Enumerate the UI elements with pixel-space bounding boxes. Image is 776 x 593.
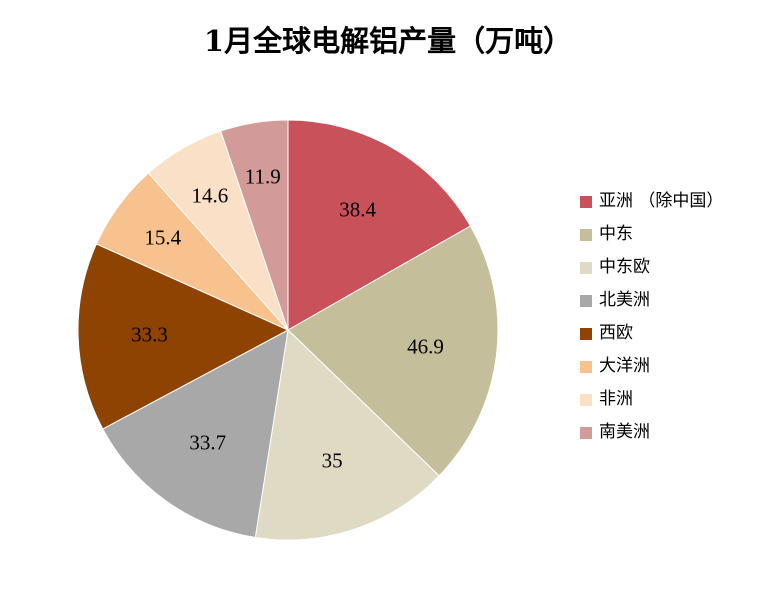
legend-item-label: 非洲 bbox=[599, 391, 633, 408]
chart-title: 1月全球电解铝产量（万吨） bbox=[0, 18, 776, 60]
legend-color-swatch bbox=[580, 295, 592, 307]
pie-chart-figure: 1月全球电解铝产量（万吨） 38.446.93533.733.315.414.6… bbox=[0, 0, 776, 593]
legend-item[interactable]: 亚洲 （除中国） bbox=[580, 185, 770, 218]
legend-item[interactable]: 中东 bbox=[580, 218, 770, 251]
legend-item[interactable]: 中东欧 bbox=[580, 251, 770, 284]
legend-color-swatch bbox=[580, 394, 592, 406]
legend-item-label: 中东欧 bbox=[599, 259, 650, 276]
legend-item-label: 中东 bbox=[599, 226, 633, 243]
legend-item[interactable]: 大洋洲 bbox=[580, 350, 770, 383]
legend-item-label: 亚洲 （除中国） bbox=[599, 193, 723, 210]
legend-color-swatch bbox=[580, 229, 592, 241]
legend-color-swatch bbox=[580, 328, 592, 340]
legend-item-label: 大洋洲 bbox=[599, 358, 650, 375]
legend-item[interactable]: 北美洲 bbox=[580, 284, 770, 317]
pie-svg bbox=[68, 110, 508, 550]
legend-color-swatch bbox=[580, 262, 592, 274]
legend-item-label: 西欧 bbox=[599, 325, 633, 342]
legend-item[interactable]: 南美洲 bbox=[580, 416, 770, 449]
legend-item-label: 南美洲 bbox=[599, 424, 650, 441]
legend-item[interactable]: 非洲 bbox=[580, 383, 770, 416]
legend-color-swatch bbox=[580, 361, 592, 373]
chart-legend: 亚洲 （除中国）中东中东欧北美洲西欧大洋洲非洲南美洲 bbox=[580, 185, 770, 449]
pie-plot-area: 38.446.93533.733.315.414.611.9 bbox=[68, 110, 508, 550]
legend-item-label: 北美洲 bbox=[599, 292, 650, 309]
legend-color-swatch bbox=[580, 427, 592, 439]
legend-item[interactable]: 西欧 bbox=[580, 317, 770, 350]
legend-color-swatch bbox=[580, 196, 592, 208]
